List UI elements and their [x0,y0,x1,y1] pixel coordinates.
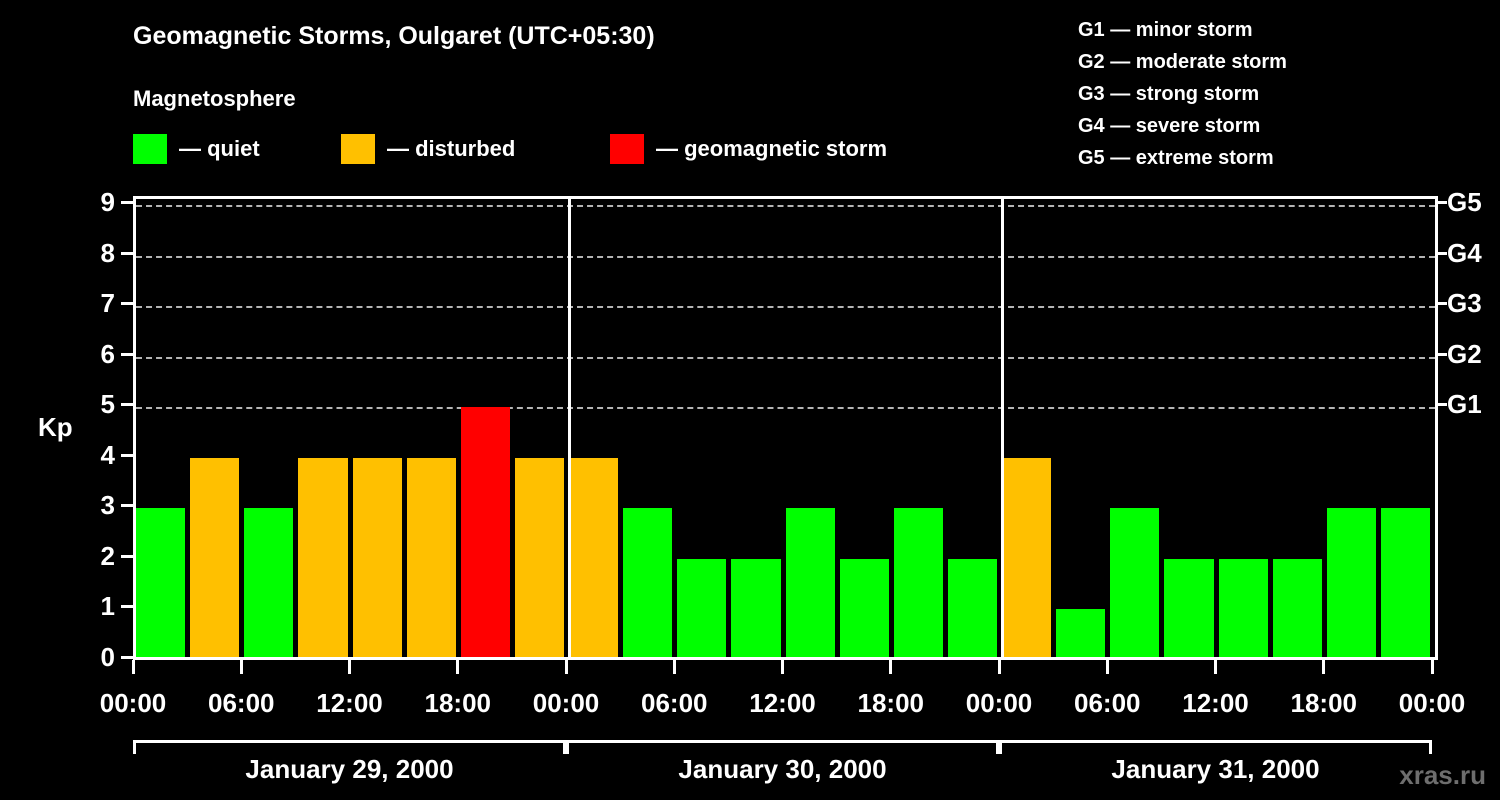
plot-area [133,196,1438,660]
bar [1002,458,1051,660]
date-label-2: January 30, 2000 [566,754,999,785]
x-tick-label-4: 00:00 [533,688,600,719]
bar [1056,609,1105,660]
y-tick-mark-6 [121,353,133,356]
y-tick-label-7: 7 [70,290,115,316]
y-tick-label-5: 5 [70,391,115,417]
legend-item-0: — quiet [133,133,260,165]
x-tick-label-2: 12:00 [316,688,383,719]
x-tick-mark-10 [1214,660,1217,674]
g-tick-label-G2: G2 [1447,341,1482,367]
date-bracket-2 [566,740,999,754]
x-tick-label-10: 12:00 [1182,688,1249,719]
legend-label: — disturbed [387,136,515,162]
x-axis-line [133,657,1435,660]
x-tick-mark-0 [132,660,135,674]
date-label-1: January 29, 2000 [133,754,566,785]
y-tick-label-9: 9 [70,189,115,215]
x-tick-label-7: 18:00 [858,688,925,719]
x-tick-label-12: 00:00 [1399,688,1466,719]
bar [1273,559,1322,660]
y-tick-label-0: 0 [70,644,115,670]
bar [731,559,780,660]
y-tick-mark-1 [121,605,133,608]
g-tick-label-G3: G3 [1447,290,1482,316]
x-tick-label-0: 00:00 [100,688,167,719]
date-bracket-1 [133,740,566,754]
bar [1381,508,1430,660]
gridline-kp-5 [136,407,1435,409]
x-tick-mark-8 [998,660,1001,674]
g-tick-label-G1: G1 [1447,391,1482,417]
chart-canvas: Geomagnetic Storms, Oulgaret (UTC+05:30)… [0,0,1500,800]
x-tick-mark-1 [240,660,243,674]
bar [298,458,347,660]
g-tick-label-G5: G5 [1447,189,1482,215]
bar [407,458,456,660]
bar [190,458,239,660]
watermark: xras.ru [1399,760,1486,791]
x-tick-mark-6 [781,660,784,674]
y-tick-mark-8 [121,252,133,255]
g-tick-label-G4: G4 [1447,240,1482,266]
y-tick-mark-7 [121,302,133,305]
plot-inner [136,199,1435,660]
x-tick-mark-2 [348,660,351,674]
bar [461,407,510,660]
gridline-kp-7 [136,306,1435,308]
x-tick-label-11: 18:00 [1291,688,1358,719]
gridline-kp-9 [136,205,1435,207]
bar [353,458,402,660]
x-tick-label-8: 00:00 [966,688,1033,719]
x-tick-label-3: 18:00 [425,688,492,719]
day-separator-2 [1001,199,1004,660]
x-tick-mark-7 [889,660,892,674]
gridline-kp-8 [136,256,1435,258]
g-scale-line-4: G4 — severe storm [1078,110,1287,142]
x-tick-label-5: 06:00 [641,688,708,719]
g-scale-line-3: G3 — strong storm [1078,78,1287,110]
x-tick-label-1: 06:00 [208,688,275,719]
y-axis-title: Kp [38,412,73,443]
g-scale-line-2: G2 — moderate storm [1078,46,1287,78]
y-tick-label-2: 2 [70,543,115,569]
x-tick-mark-5 [673,660,676,674]
bar [244,508,293,660]
date-bracket-3 [999,740,1432,754]
g-scale-line-1: G1 — minor storm [1078,14,1287,46]
gridline-kp-6 [136,357,1435,359]
legend-label: — quiet [179,136,260,162]
bar [569,458,618,660]
y-tick-mark-2 [121,555,133,558]
x-tick-mark-11 [1322,660,1325,674]
bar [948,559,997,660]
bar [1327,508,1376,660]
y-tick-mark-5 [121,403,133,406]
section-title-magnetosphere: Magnetosphere [133,86,296,112]
quiet-swatch [133,134,167,164]
g-scale-line-5: G5 — extreme storm [1078,142,1287,174]
page-title: Geomagnetic Storms, Oulgaret (UTC+05:30) [133,22,655,51]
y-tick-label-6: 6 [70,341,115,367]
day-separator-1 [568,199,571,660]
bar [894,508,943,660]
g-scale-legend: G1 — minor stormG2 — moderate stormG3 — … [1078,14,1287,174]
bar [786,508,835,660]
y-tick-mark-3 [121,504,133,507]
x-tick-label-6: 12:00 [749,688,816,719]
y-tick-mark-9 [121,201,133,204]
x-tick-mark-4 [565,660,568,674]
storm-swatch [610,134,644,164]
bar [840,559,889,660]
y-tick-label-8: 8 [70,240,115,266]
y-tick-label-3: 3 [70,492,115,518]
y-tick-label-4: 4 [70,442,115,468]
bar [1110,508,1159,660]
legend-label: — geomagnetic storm [656,136,887,162]
x-tick-mark-3 [456,660,459,674]
y-tick-mark-4 [121,454,133,457]
legend-item-2: — geomagnetic storm [610,133,887,165]
bar [515,458,564,660]
y-tick-mark-0 [121,656,133,659]
x-tick-mark-9 [1106,660,1109,674]
bar [136,508,185,660]
x-tick-label-9: 06:00 [1074,688,1141,719]
legend-item-1: — disturbed [341,133,515,165]
x-tick-mark-12 [1431,660,1434,674]
bar [1219,559,1268,660]
bar [623,508,672,660]
bar [1164,559,1213,660]
date-label-3: January 31, 2000 [999,754,1432,785]
y-tick-label-1: 1 [70,593,115,619]
disturbed-swatch [341,134,375,164]
bar [677,559,726,660]
